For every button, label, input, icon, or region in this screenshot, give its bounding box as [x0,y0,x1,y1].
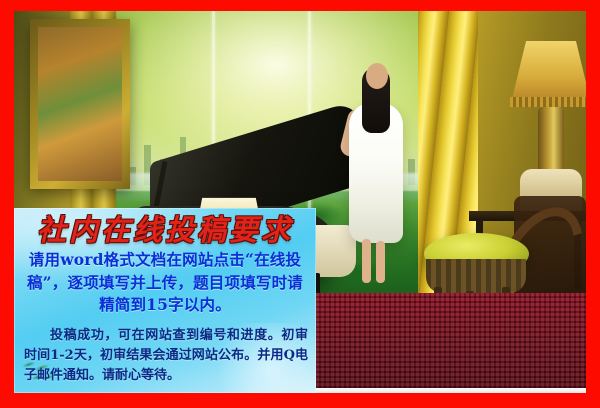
framed-artwork [30,19,130,189]
notice-title: 社内在线投稿要求 [14,214,316,247]
notice-panel: 社内在线投稿要求 请用word格式文档在网站点击“在线投稿”，逐项填写并上传，题… [14,208,316,393]
notice-paragraph-secondary: 投稿成功，可在网站查到编号和进度。初审时间1-2天，初审结果会通过网站公布。并用… [24,326,308,386]
woman-head [366,63,388,89]
notice-paragraph-primary: 请用word格式文档在网站点击“在线投稿”，逐项填写并上传，题目项填写时请精简到… [24,249,306,316]
lamp-fringe [510,97,586,107]
poster-frame: 社内在线投稿要求 请用word格式文档在网站点击“在线投稿”，逐项填写并上传，题… [0,0,600,408]
lamp-stem [538,107,564,177]
woman-leg [376,241,385,283]
woman-leg [362,239,371,283]
